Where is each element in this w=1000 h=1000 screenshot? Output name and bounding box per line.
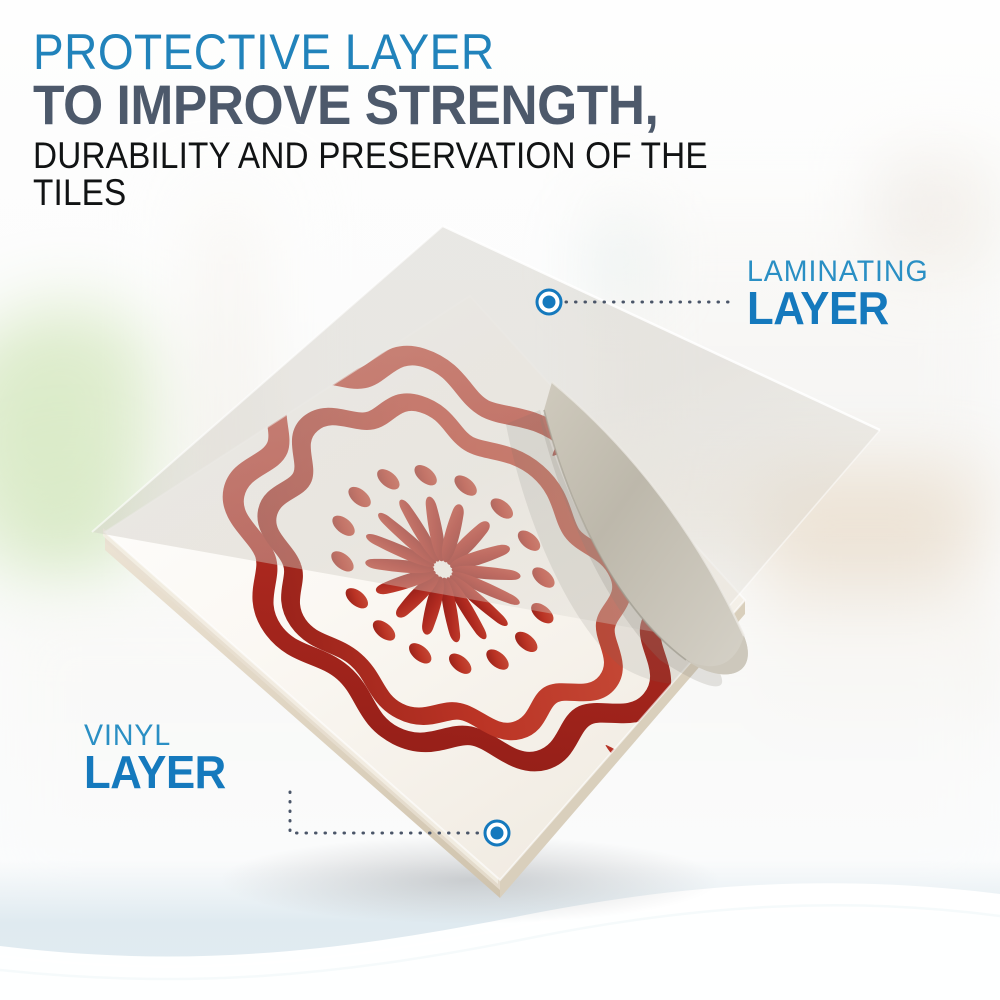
headline-line-2: TO IMPROVE STRENGTH, [33, 78, 824, 133]
callout-laminating-bold-label: LAYER [747, 287, 929, 331]
headline-line-1: PROTECTIVE LAYER [33, 28, 824, 76]
infographic-canvas: PROTECTIVE LAYER TO IMPROVE STRENGTH, DU… [0, 0, 1000, 1000]
headline-block: PROTECTIVE LAYER TO IMPROVE STRENGTH, DU… [33, 28, 893, 211]
callout-vinyl-layer: VINYL LAYER [84, 722, 233, 794]
headline-line-3: DURABILITY AND PRESERVATION OF THE TILES [33, 137, 807, 211]
callout-vinyl-bold-label: LAYER [84, 751, 226, 795]
callout-laminating-layer: LAMINATING LAYER [747, 258, 938, 330]
